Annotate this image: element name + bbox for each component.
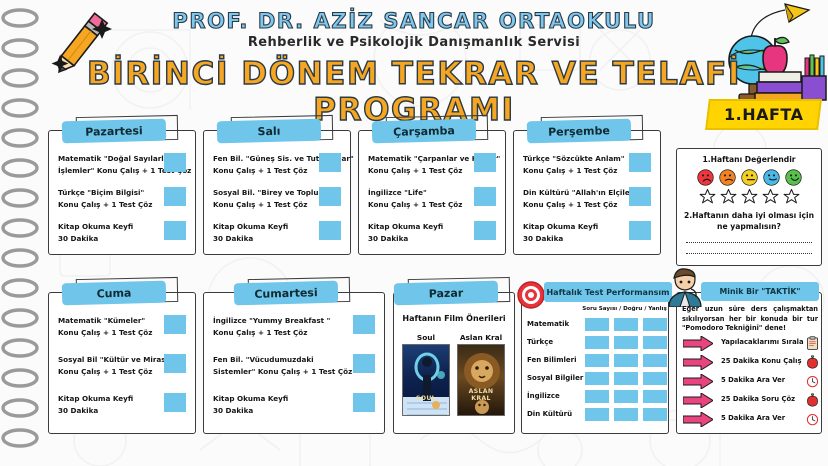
- tomato-icon: [806, 355, 819, 374]
- arrow-right-icon: [683, 393, 713, 408]
- day-name-label: Perşembe: [548, 124, 610, 139]
- task-line: Kitap Okuma Keyfi: [523, 221, 623, 233]
- performance-row: Türkçe: [527, 335, 665, 352]
- performance-cell[interactable]: [643, 408, 667, 421]
- day-card-sal: Salı Fen Bil. "Güneş Sis. ve Tutulmalar"…: [203, 130, 351, 255]
- mood-face-icon[interactable]: [763, 169, 780, 186]
- star-icon[interactable]: [783, 188, 800, 205]
- task-line: 30 Dakika: [213, 405, 347, 417]
- answer-line[interactable]: [686, 234, 812, 243]
- arrow-right-icon: [683, 374, 713, 389]
- task-item: Kitap Okuma Keyfi30 Dakika: [523, 221, 651, 244]
- evaluation-question-1: 1.Haftanı Değerlendir: [683, 154, 815, 165]
- task-line: Konu Çalış + 1 Test Çöz: [368, 165, 468, 177]
- day-tab: Cumartesi: [234, 280, 354, 306]
- clipboard-icon: [806, 336, 819, 355]
- tab-fill: Cumartesi: [234, 281, 339, 306]
- weekly-test-performance-panel: Haftalık Test Performansım Soru Sayısı /…: [521, 292, 669, 434]
- task-line: Konu Çalış + 1 Test Çöz: [523, 165, 623, 177]
- tactic-step-label: 5 Dakika Ara Ver: [721, 376, 785, 384]
- task-item: Türkçe "Sözcükte Anlam"Konu Çalış + 1 Te…: [523, 153, 651, 176]
- task-item: Din Kültürü "Allah'ın ElçileriKonu Çalış…: [523, 187, 651, 210]
- performance-cell[interactable]: [585, 354, 609, 367]
- tactic-step: Yapılacaklarımı Sırala: [683, 335, 819, 352]
- mood-faces-row[interactable]: [683, 169, 815, 186]
- performance-title: Haftalık Test Performansım: [546, 288, 669, 297]
- performance-cell[interactable]: [614, 318, 638, 331]
- mood-face-icon[interactable]: [719, 169, 736, 186]
- tactic-step: 25 Dakika Soru Çöz: [683, 392, 819, 409]
- poster-root: PROF. DR. AZİZ SANCAR ORTAOKULU Rehberli…: [0, 0, 828, 466]
- tab-fill: Pazartesi: [62, 119, 167, 144]
- task-line: 30 Dakika: [368, 233, 468, 245]
- performance-cell[interactable]: [614, 408, 638, 421]
- task-line: 30 Dakika: [523, 233, 623, 245]
- day-name-label: Pazar: [429, 286, 464, 300]
- performance-row: Fen Bilimleri: [527, 353, 665, 370]
- task-checkbox[interactable]: [629, 187, 651, 206]
- day-name-label: Cumartesi: [254, 286, 318, 301]
- evaluation-question-2: 2.Haftanın daha iyi olması için ne yapma…: [683, 210, 815, 232]
- task-checkbox[interactable]: [474, 221, 496, 240]
- tactic-title-banner: Minik Bir "TAKTİK": [701, 282, 819, 301]
- task-item: Kitap Okuma Keyfi30 Dakika: [58, 393, 186, 416]
- task-checkbox[interactable]: [164, 187, 186, 206]
- tab-fill: Cuma: [62, 281, 167, 306]
- performance-subject-label: Matematik: [527, 320, 569, 328]
- poster-title: ASLAN KRAL: [458, 388, 504, 402]
- movie-poster-soul[interactable]: SOUL: [402, 344, 450, 416]
- movie-label: Soul: [402, 333, 450, 342]
- task-checkbox[interactable]: [353, 354, 375, 373]
- performance-column-header: Soru Sayısı / Doğru / Yanlış: [582, 306, 667, 312]
- task-checkbox[interactable]: [353, 393, 375, 412]
- task-item: Kitap Okuma Keyfi30 Dakika: [213, 393, 375, 416]
- task-checkbox[interactable]: [164, 354, 186, 373]
- task-line: Sistemler" Konu Çalış + 1 Test Çöz: [213, 366, 347, 378]
- performance-cell[interactable]: [585, 318, 609, 331]
- tomato-icon: [806, 393, 819, 412]
- day-name-label: Salı: [257, 124, 280, 138]
- performance-title-banner: Haftalık Test Performansım: [544, 282, 672, 302]
- tactic-panel: Minik Bir "TAKTİK" Eğer uzun süre ders ç…: [676, 292, 822, 434]
- task-line: İşlemler" Konu Çalış + 1 Test Çöz: [58, 165, 158, 177]
- mood-face-icon[interactable]: [697, 169, 714, 186]
- task-line: Türkçe "Sözcükte Anlam": [523, 153, 623, 165]
- tab-fill: Çarşamba: [372, 119, 477, 144]
- task-line: Türkçe "Biçim Bilgisi": [58, 187, 158, 199]
- performance-cell[interactable]: [643, 336, 667, 349]
- task-line: Sosyal Bil. "Birey ve Toplum": [213, 187, 313, 199]
- task-item: Matematik "Kümeler"Konu Çalış + 1 Test Ç…: [58, 315, 186, 338]
- task-line: Kitap Okuma Keyfi: [58, 221, 158, 233]
- task-item: Türkçe "Biçim Bilgisi"Konu Çalış + 1 Tes…: [58, 187, 186, 210]
- star-rating-row[interactable]: [683, 188, 815, 205]
- task-line: Konu Çalış + 1 Test Çöz: [523, 199, 623, 211]
- day-tab: Salı: [217, 118, 337, 144]
- answer-line[interactable]: [686, 245, 812, 254]
- task-line: 30 Dakika: [213, 233, 313, 245]
- tactic-step: 5 Dakika Ara Ver: [683, 373, 819, 390]
- day-name-label: Çarşamba: [393, 124, 455, 139]
- tactic-step-label: 5 Dakika Ara Ver: [721, 414, 785, 422]
- task-item: Kitap Okuma Keyfi30 Dakika: [368, 221, 496, 244]
- performance-subject-label: İngilizce: [527, 392, 560, 400]
- task-line: Kitap Okuma Keyfi: [58, 393, 158, 405]
- tactic-step: 5 Dakika Ara Ver: [683, 411, 819, 428]
- task-line: Konu Çalış + 1 Test Çöz: [213, 199, 313, 211]
- tab-fill: Salı: [217, 119, 322, 144]
- task-item: İngilizce "Life"Konu Çalış + 1 Test Çöz: [368, 187, 496, 210]
- performance-cell[interactable]: [585, 336, 609, 349]
- performance-cell[interactable]: [614, 354, 638, 367]
- star-icon[interactable]: [720, 188, 737, 205]
- task-line: Kitap Okuma Keyfi: [368, 221, 468, 233]
- tactic-step: 25 Dakika Konu Çalış: [683, 354, 819, 371]
- movie-section-title: Haftanın Film Önerileri: [394, 314, 514, 323]
- task-line: Kitap Okuma Keyfi: [213, 221, 313, 233]
- target-icon: [516, 280, 546, 310]
- performance-cell[interactable]: [643, 372, 667, 385]
- performance-cell[interactable]: [614, 390, 638, 403]
- performance-row: Matematik: [527, 317, 665, 334]
- performance-subject-label: Türkçe: [527, 338, 553, 346]
- performance-row: İngilizce: [527, 389, 665, 406]
- performance-cell[interactable]: [614, 336, 638, 349]
- task-line: 30 Dakika: [58, 405, 158, 417]
- day-card-cuma: Cuma Matematik "Kümeler"Konu Çalış + 1 T…: [48, 292, 196, 434]
- arrow-right-icon: [683, 336, 713, 351]
- performance-cell[interactable]: [643, 354, 667, 367]
- poster-header: PROF. DR. AZİZ SANCAR ORTAOKULU Rehberli…: [0, 0, 828, 112]
- task-checkbox[interactable]: [629, 153, 651, 172]
- task-line: Din Kültürü "Allah'ın Elçileri: [523, 187, 623, 199]
- task-line: Konu Çalış + 1 Test Çöz: [58, 327, 158, 339]
- task-item: Kitap Okuma Keyfi30 Dakika: [213, 221, 341, 244]
- tab-fill: Perşembe: [527, 119, 632, 144]
- task-line: Konu Çalış + 1 Test Çöz: [58, 366, 158, 378]
- performance-subject-label: Sosyal Bilgiler: [527, 374, 583, 382]
- performance-cell[interactable]: [585, 390, 609, 403]
- task-line: Matematik "Kümeler": [58, 315, 158, 327]
- performance-row: Din Kültürü: [527, 407, 665, 424]
- task-line: Matematik "Doğal Sayılarla: [58, 153, 158, 165]
- task-item: Matematik "Doğal Sayılarlaİşlemler" Konu…: [58, 153, 186, 176]
- performance-row: Sosyal Bilgiler: [527, 371, 665, 388]
- performance-subject-label: Din Kültürü: [527, 410, 572, 418]
- day-card-cumartesi: Cumartesi İngilizce "Yummy Breakfast "Ko…: [203, 292, 385, 434]
- task-line: Fen Bil. "Güneş Sis. ve Tutulmalar": [213, 153, 313, 165]
- task-line: 30 Dakika: [58, 233, 158, 245]
- mood-face-icon[interactable]: [785, 169, 802, 186]
- task-line: İngilizce "Yummy Breakfast ": [213, 315, 347, 327]
- day-card-perembe: Perşembe Türkçe "Sözcükte Anlam"Konu Çal…: [513, 130, 661, 255]
- day-card-pazar: Pazar Haftanın Film Önerileri Soul: [393, 292, 515, 434]
- task-item: Matematik "Çarpanlar ve Katlar"Konu Çalı…: [368, 153, 496, 176]
- task-checkbox[interactable]: [474, 187, 496, 206]
- tactic-step-label: 25 Dakika Konu Çalış: [721, 357, 802, 365]
- star-icon[interactable]: [699, 188, 716, 205]
- movie-label: Aslan Kral: [457, 333, 505, 342]
- movie-entry[interactable]: Aslan Kral ASLAN KRAL: [457, 333, 505, 416]
- task-checkbox[interactable]: [164, 393, 186, 412]
- task-checkbox[interactable]: [629, 221, 651, 240]
- clock-icon: [806, 374, 819, 393]
- performance-cell[interactable]: [585, 372, 609, 385]
- movie-poster-aslan-kral[interactable]: ASLAN KRAL: [457, 344, 505, 416]
- tactic-intro-text: Eğer uzun süre ders çalışmaktan sıkılıyo…: [682, 305, 818, 334]
- task-line: Konu Çalış + 1 Test Çöz: [213, 165, 313, 177]
- task-line: Matematik "Çarpanlar ve Katlar": [368, 153, 468, 165]
- day-name-label: Cuma: [96, 286, 131, 300]
- day-tab: Çarşamba: [372, 118, 492, 144]
- task-checkbox[interactable]: [319, 221, 341, 240]
- task-item: Kitap Okuma Keyfi30 Dakika: [58, 221, 186, 244]
- task-item: Sosyal Bil "Kültür ve Miras"Konu Çalış +…: [58, 354, 186, 377]
- star-icon[interactable]: [741, 188, 758, 205]
- task-line: Fen Bil. "Vücudumuzdaki: [213, 354, 347, 366]
- poster-title: SOUL: [403, 395, 449, 402]
- tactic-step-label: 25 Dakika Soru Çöz: [721, 395, 795, 403]
- performance-cell[interactable]: [643, 390, 667, 403]
- performance-cell[interactable]: [585, 408, 609, 421]
- task-checkbox[interactable]: [474, 153, 496, 172]
- movie-posters: Soul SOUL Aslan Kral: [402, 333, 505, 416]
- task-checkbox[interactable]: [164, 153, 186, 172]
- arrow-right-icon: [683, 412, 713, 427]
- task-line: Kitap Okuma Keyfi: [213, 393, 347, 405]
- department-name: Rehberlik ve Psikolojik Danışmanlık Serv…: [0, 35, 828, 50]
- tactic-title: Minik Bir "TAKTİK": [720, 287, 801, 296]
- task-checkbox[interactable]: [164, 315, 186, 334]
- mood-face-icon[interactable]: [741, 169, 758, 186]
- week-badge-label: 1.HAFTA: [724, 105, 803, 124]
- task-line: İngilizce "Life": [368, 187, 468, 199]
- arrow-right-icon: [683, 355, 713, 370]
- task-checkbox[interactable]: [353, 315, 375, 334]
- star-icon[interactable]: [762, 188, 779, 205]
- task-checkbox[interactable]: [319, 187, 341, 206]
- day-tab-pazar: Pazar: [394, 280, 514, 306]
- performance-subject-label: Fen Bilimleri: [527, 356, 577, 364]
- task-line: Konu Çalış + 1 Test Çöz: [58, 199, 158, 211]
- task-line: Sosyal Bil "Kültür ve Miras": [58, 354, 158, 366]
- tactic-step-label: Yapılacaklarımı Sırala: [721, 338, 804, 346]
- day-card-pazartesi: Pazartesi Matematik "Doğal Sayılarlaİşle…: [48, 130, 196, 255]
- task-item: Sosyal Bil. "Birey ve Toplum"Konu Çalış …: [213, 187, 341, 210]
- performance-cell[interactable]: [614, 372, 638, 385]
- task-item: Fen Bil. "Güneş Sis. ve Tutulmalar"Konu …: [213, 153, 341, 176]
- day-tab: Cuma: [62, 280, 182, 306]
- tab-fill: Pazar: [394, 281, 499, 306]
- day-tab: Pazartesi: [62, 118, 182, 144]
- performance-cell[interactable]: [643, 318, 667, 331]
- task-checkbox[interactable]: [164, 221, 186, 240]
- clock-icon: [806, 412, 819, 431]
- school-name: PROF. DR. AZİZ SANCAR ORTAOKULU: [0, 9, 828, 33]
- day-name-label: Pazartesi: [85, 124, 143, 139]
- task-item: Fen Bil. "VücudumuzdakiSistemler" Konu Ç…: [213, 354, 375, 377]
- week-evaluation-panel: 1.Haftanı Değerlendir 2.Haftanın daha iy…: [676, 148, 822, 266]
- task-checkbox[interactable]: [319, 153, 341, 172]
- day-card-aramba: Çarşamba Matematik "Çarpanlar ve Katlar"…: [358, 130, 506, 255]
- week-badge: 1.HAFTA: [705, 99, 822, 130]
- movie-entry[interactable]: Soul SOUL: [402, 333, 450, 416]
- day-tab: Perşembe: [527, 118, 647, 144]
- task-line: Konu Çalış + 1 Test Çöz: [213, 327, 347, 339]
- task-line: Konu Çalış + 1 Test Çöz: [368, 199, 468, 211]
- task-item: İngilizce "Yummy Breakfast "Konu Çalış +…: [213, 315, 375, 338]
